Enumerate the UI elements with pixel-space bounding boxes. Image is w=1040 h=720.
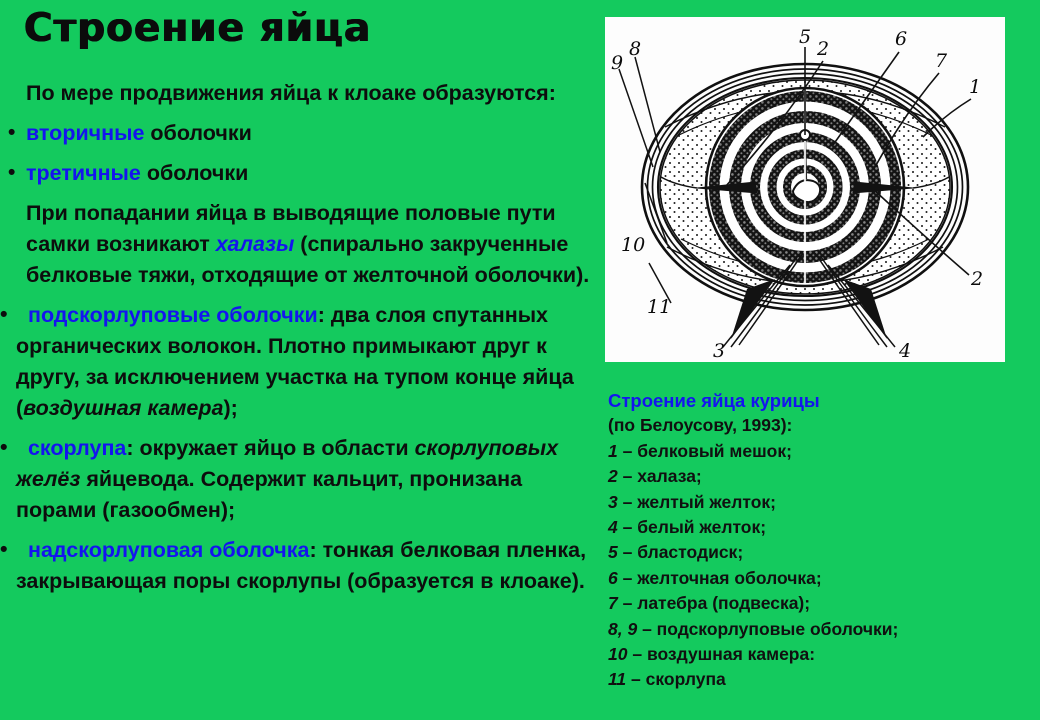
figure-legend: Строение яйца курицы (по Белоусову, 1993… (608, 388, 1038, 693)
legend-label: скорлупа (646, 669, 726, 689)
legend-label: подскорлуповые оболочки; (657, 619, 899, 639)
term-rest: оболочки (141, 161, 248, 185)
legend-num: 10 (608, 644, 627, 664)
list-item: • скорлупа: окружает яйцо в области скор… (0, 433, 600, 526)
legend-item: 7 – латебра (подвеска); (608, 591, 1038, 616)
legend-label: латебра (подвеска); (637, 593, 810, 613)
legend-dash: – (618, 492, 637, 512)
legend-item: 3 – желтый желток; (608, 490, 1038, 515)
bullet-icon: • (8, 117, 15, 148)
legend-dash: – (618, 593, 637, 613)
legend-item: 2 – халаза; (608, 464, 1038, 489)
legend-num: 4 (608, 517, 618, 537)
egg-diagram-figure: 1 2 2 3 4 5 6 7 8 9 10 11 (605, 17, 1005, 362)
legend-dash: – (626, 669, 645, 689)
slide-root: Строение яйца По мере продвижения яйца к… (0, 0, 1040, 720)
term-highlight: халазы (216, 232, 295, 256)
legend-dash: – (618, 568, 637, 588)
legend-num: 2 (608, 466, 618, 486)
diagram-label-6: 6 (895, 28, 907, 50)
legend-num: 5 (608, 542, 618, 562)
diagram-label-8: 8 (629, 38, 641, 60)
legend-label: желточная оболочка; (637, 568, 822, 588)
egg-diagram-svg: 1 2 2 3 4 5 6 7 8 9 10 11 (605, 17, 1005, 362)
legend-title: Строение яйца курицы (608, 388, 1038, 413)
list-item: • третичные оболочки (0, 158, 600, 189)
bullet-icon: • (0, 534, 8, 565)
desc-text-tail: яйцевода. Содержит кальцит, пронизана по… (16, 467, 522, 522)
legend-item: 10 – воздушная камера: (608, 642, 1038, 667)
diagram-label-10: 10 (621, 234, 645, 256)
diagram-label-3: 3 (713, 340, 725, 362)
chalaza-paragraph: При попадании яйца в выводящие половые п… (0, 198, 600, 291)
legend-dash: – (627, 644, 646, 664)
legend-item: 1 – белковый мешок; (608, 439, 1038, 464)
legend-item: 6 – желточная оболочка; (608, 566, 1038, 591)
bullet-icon: • (0, 299, 8, 330)
diagram-label-11: 11 (647, 296, 671, 318)
term-rest: оболочки (144, 121, 251, 145)
left-text-column: Строение яйца По мере продвижения яйца к… (0, 0, 600, 720)
legend-num: 7 (608, 593, 618, 613)
term-highlight: третичные (26, 161, 141, 185)
legend-num: 11 (608, 669, 626, 689)
desc-text: : окружает яйцо в области (126, 436, 414, 460)
right-figure-column: 1 2 2 3 4 5 6 7 8 9 10 11 Строение яйца … (600, 0, 1040, 720)
term-highlight: скорлупа (28, 436, 126, 460)
term-highlight: подскорлуповые оболочки (28, 303, 318, 327)
list-item: • вторичные оболочки (0, 118, 600, 149)
diagram-label-9: 9 (611, 52, 623, 74)
legend-label: халаза; (637, 466, 702, 486)
legend-dash: – (618, 542, 637, 562)
legend-num: 8, 9 (608, 619, 637, 639)
body-text-block: По мере продвижения яйца к клоаке образу… (0, 78, 600, 597)
bullet-icon: • (0, 432, 8, 463)
bullet-icon: • (8, 157, 15, 188)
legend-dash: – (618, 517, 637, 537)
page-title: Строение яйца (24, 6, 371, 51)
diagram-label-2-bottom: 2 (970, 268, 983, 290)
diagram-label-1: 1 (969, 76, 981, 98)
desc-text-tail: ); (223, 396, 237, 420)
intro-paragraph: По мере продвижения яйца к клоаке образу… (0, 78, 600, 109)
legend-label: бластодиск; (637, 542, 743, 562)
emphasis-text: воздушная камера (23, 396, 223, 420)
legend-item: 11 – скорлупа (608, 667, 1038, 692)
list-item: • подскорлуповые оболочки: два слоя спут… (0, 300, 600, 424)
diagram-label-2-top: 2 (816, 38, 829, 60)
term-highlight: надскорлуповая оболочка (28, 538, 310, 562)
legend-num: 1 (608, 441, 618, 461)
legend-label: желтый желток; (637, 492, 776, 512)
list-item: • надскорлуповая оболочка: тонкая белков… (0, 535, 600, 597)
term-highlight: вторичные (26, 121, 144, 145)
legend-num: 3 (608, 492, 618, 512)
legend-label: белковый мешок; (637, 441, 792, 461)
legend-label: воздушная камера: (647, 644, 815, 664)
diagram-label-5: 5 (799, 26, 811, 48)
legend-label: белый желток; (637, 517, 766, 537)
diagram-label-7: 7 (935, 50, 948, 72)
diagram-label-4: 4 (898, 340, 911, 362)
legend-item: 8, 9 – подскорлуповые оболочки; (608, 617, 1038, 642)
legend-dash: – (618, 466, 637, 486)
legend-item: 5 – бластодиск; (608, 540, 1038, 565)
legend-item: 4 – белый желток; (608, 515, 1038, 540)
legend-dash: – (637, 619, 656, 639)
legend-source: (по Белоусову, 1993): (608, 413, 1038, 438)
legend-num: 6 (608, 568, 618, 588)
legend-dash: – (618, 441, 637, 461)
